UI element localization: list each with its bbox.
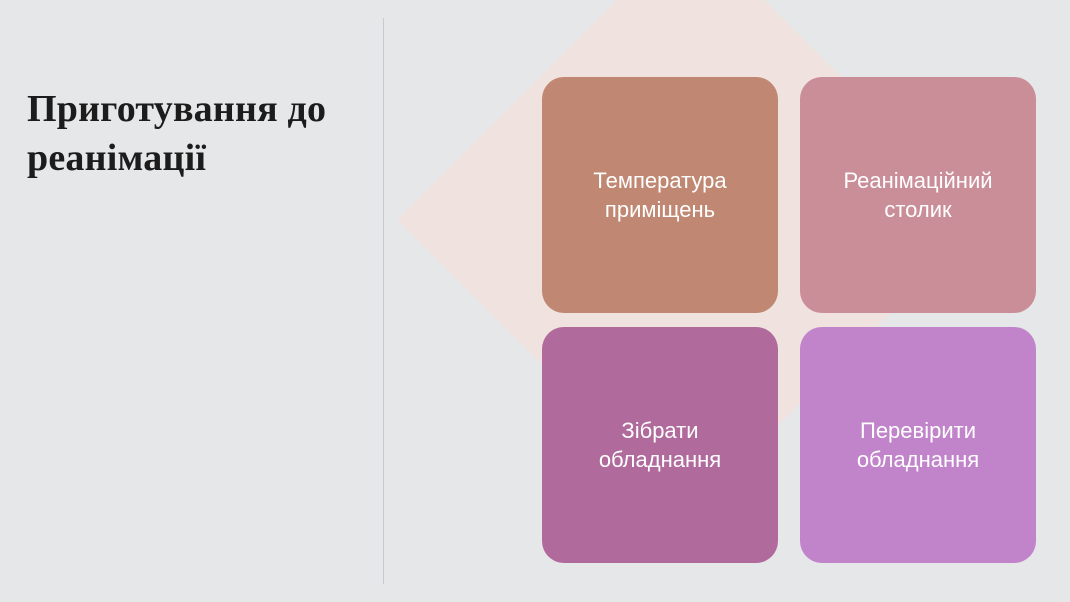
tile-label: Перевірити обладнання (857, 416, 979, 475)
tile-label: Зібрати обладнання (599, 416, 721, 475)
tile-temperature[interactable]: Температура приміщень (542, 77, 778, 313)
tile-gather-equipment[interactable]: Зібрати обладнання (542, 327, 778, 563)
tile-resuscitation-table[interactable]: Реанімаційний столик (800, 77, 1036, 313)
page-title: Приготування до реанімації (27, 85, 357, 182)
slide: Приготування до реанімації Температура п… (0, 0, 1070, 602)
tile-check-equipment[interactable]: Перевірити обладнання (800, 327, 1036, 563)
tile-label: Температура приміщень (593, 166, 726, 225)
tile-label: Реанімаційний столик (843, 166, 992, 225)
tiles-grid: Температура приміщень Реанімаційний стол… (542, 77, 1036, 563)
